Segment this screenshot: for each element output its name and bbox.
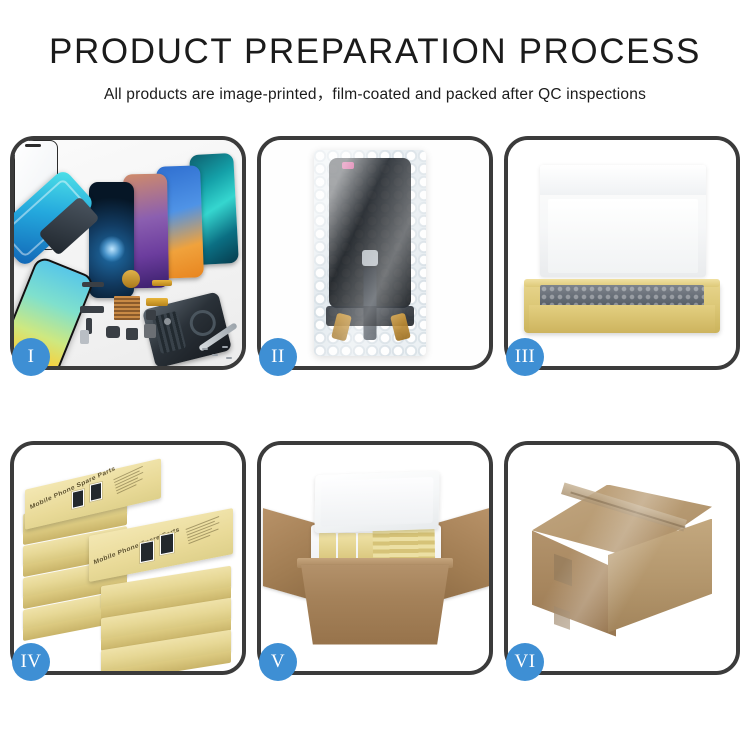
step-badge-4: IV	[12, 643, 50, 681]
process-step-4: Mobile Phone Spare Parts Mo	[10, 441, 246, 675]
screws-group	[202, 346, 236, 362]
page-subtitle: All products are image-printed，film-coat…	[0, 82, 750, 104]
product-preparation-infographic: PRODUCT PREPARATION PROCESS All products…	[0, 0, 750, 750]
step-5-image	[261, 445, 489, 671]
stacked-boxes: Mobile Phone Spare Parts Mo	[23, 468, 233, 658]
step-badge-1: I	[12, 338, 50, 376]
step-badge-5: V	[259, 643, 297, 681]
spare-parts-group	[76, 266, 196, 352]
process-step-5: V	[257, 441, 493, 675]
process-step-grid: I II	[10, 136, 740, 684]
open-shipping-carton	[275, 473, 475, 653]
sealed-carton	[524, 479, 720, 647]
carton-body	[301, 565, 449, 645]
box-tray-front-panel	[529, 305, 715, 333]
step-4-image: Mobile Phone Spare Parts Mo	[14, 445, 242, 671]
step-1-image	[14, 140, 242, 366]
process-step-6: VI	[504, 441, 740, 675]
foam-lid-sheet	[540, 165, 706, 277]
foam-lid-open	[314, 470, 439, 532]
process-step-1: I	[10, 136, 246, 370]
flex-cable	[364, 268, 377, 340]
step-2-image	[261, 140, 489, 366]
step-badge-6: VI	[506, 643, 544, 681]
page-title: PRODUCT PREPARATION PROCESS	[0, 34, 750, 69]
bubble-wrap-bag	[314, 150, 426, 356]
step-6-image	[508, 445, 736, 671]
process-step-2: II	[257, 136, 493, 370]
box-tray	[524, 283, 720, 333]
step-badge-2: II	[259, 338, 297, 376]
flex-connector-tab	[362, 250, 378, 266]
step-badge-3: III	[506, 338, 544, 376]
box-spec-lines-back	[113, 464, 150, 496]
box-art-screen-back-1	[71, 487, 85, 509]
box-art-screen-front-1	[139, 539, 155, 564]
step-3-image	[508, 140, 736, 366]
pink-label-sticker	[342, 162, 354, 169]
open-kraft-box	[524, 165, 720, 341]
box-art-screen-front-2	[159, 531, 175, 556]
header: PRODUCT PREPARATION PROCESS All products…	[0, 0, 750, 104]
box-art-screen-back-2	[89, 480, 103, 502]
box-spec-lines-front	[186, 514, 227, 546]
phone-screen-fan	[14, 140, 242, 366]
process-step-3: III	[504, 136, 740, 370]
